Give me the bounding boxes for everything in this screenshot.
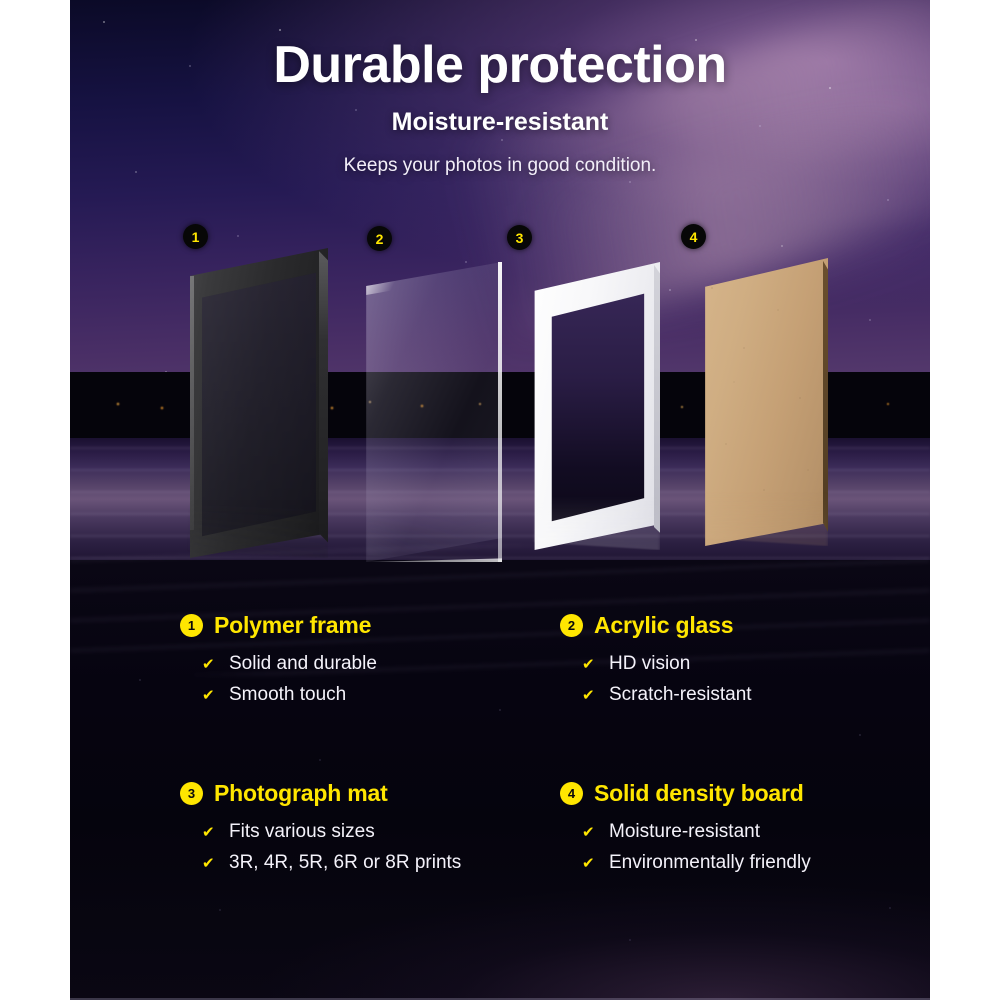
check-icon: ✔ xyxy=(582,856,595,871)
feature-4-bullet-2: ✔ Environmentally friendly xyxy=(582,852,930,874)
feature-1-bullet-1: ✔ Solid and durable xyxy=(202,653,570,675)
feature-2-header: 2 Acrylic glass xyxy=(560,612,930,639)
feature-3-bullet-1: ✔ Fits various sizes xyxy=(202,821,570,843)
check-icon: ✔ xyxy=(202,688,215,703)
diagram-badge-1: 1 xyxy=(183,224,208,249)
feature-4-number: 4 xyxy=(560,782,583,805)
feature-3-header: 3 Photograph mat xyxy=(180,780,570,807)
feature-4-bullet-1: ✔ Moisture-resistant xyxy=(582,821,930,843)
page-subtitle: Moisture-resistant xyxy=(70,108,930,137)
feature-1-number: 1 xyxy=(180,614,203,637)
check-icon: ✔ xyxy=(202,657,215,672)
feature-3-number: 3 xyxy=(180,782,203,805)
feature-3-bullet-1-text: Fits various sizes xyxy=(229,821,375,843)
board-side-edge xyxy=(823,258,828,546)
feature-4-bullet-2-text: Environmentally friendly xyxy=(609,852,811,874)
feature-block-4: 4 Solid density board ✔ Moisture-resista… xyxy=(560,780,930,883)
infographic-canvas: Durable protection Moisture-resistant Ke… xyxy=(0,0,1000,1000)
check-icon: ✔ xyxy=(202,825,215,840)
feature-3-bullet-2: ✔ 3R, 4R, 5R, 6R or 8R prints xyxy=(202,852,570,874)
glass-pane xyxy=(362,262,502,562)
part-photograph-mat xyxy=(528,262,660,550)
feature-3-title: Photograph mat xyxy=(214,780,388,807)
check-icon: ✔ xyxy=(582,688,595,703)
feature-2-title: Acrylic glass xyxy=(594,612,733,639)
board-face xyxy=(700,258,828,546)
mat-side-edge xyxy=(654,262,660,550)
feature-4-header: 4 Solid density board xyxy=(560,780,930,807)
feature-1-title: Polymer frame xyxy=(214,612,371,639)
part-density-board xyxy=(700,258,828,546)
feature-block-3: 3 Photograph mat ✔ Fits various sizes ✔ … xyxy=(180,780,570,883)
feature-list: 1 Polymer frame ✔ Solid and durable ✔ Sm… xyxy=(70,612,930,912)
feature-2-bullet-1: ✔ HD vision xyxy=(582,653,930,675)
feature-4-title: Solid density board xyxy=(594,780,804,807)
feature-1-bullet-2: ✔ Smooth touch xyxy=(202,684,570,706)
feature-3-bullet-2-text: 3R, 4R, 5R, 6R or 8R prints xyxy=(229,852,461,874)
page-title: Durable protection xyxy=(70,38,930,93)
frame-highlight xyxy=(190,276,194,530)
page-tagline: Keeps your photos in good condition. xyxy=(70,155,930,177)
feature-2-number: 2 xyxy=(560,614,583,637)
feature-2-bullet-2-text: Scratch-resistant xyxy=(609,684,752,706)
check-icon: ✔ xyxy=(582,657,595,672)
feature-2-bullet-1-text: HD vision xyxy=(609,653,690,675)
night-sky-scene: Durable protection Moisture-resistant Ke… xyxy=(70,0,930,1000)
diagram-badge-4: 4 xyxy=(681,224,706,249)
part-acrylic-glass xyxy=(362,262,502,562)
check-icon: ✔ xyxy=(202,856,215,871)
feature-2-bullet-2: ✔ Scratch-resistant xyxy=(582,684,930,706)
frame-side-edge xyxy=(319,248,328,558)
feature-1-header: 1 Polymer frame xyxy=(180,612,570,639)
glass-right-edge xyxy=(498,262,502,562)
feature-1-bullet-2-text: Smooth touch xyxy=(229,684,346,706)
feature-block-2: 2 Acrylic glass ✔ HD vision ✔ Scratch-re… xyxy=(560,612,930,715)
diagram-badge-2: 2 xyxy=(367,226,392,251)
feature-1-bullet-1-text: Solid and durable xyxy=(229,653,377,675)
feature-4-bullet-1-text: Moisture-resistant xyxy=(609,821,760,843)
check-icon: ✔ xyxy=(582,825,595,840)
part-polymer-frame xyxy=(178,248,328,558)
feature-block-1: 1 Polymer frame ✔ Solid and durable ✔ Sm… xyxy=(180,612,570,715)
diagram-badge-3: 3 xyxy=(507,225,532,250)
